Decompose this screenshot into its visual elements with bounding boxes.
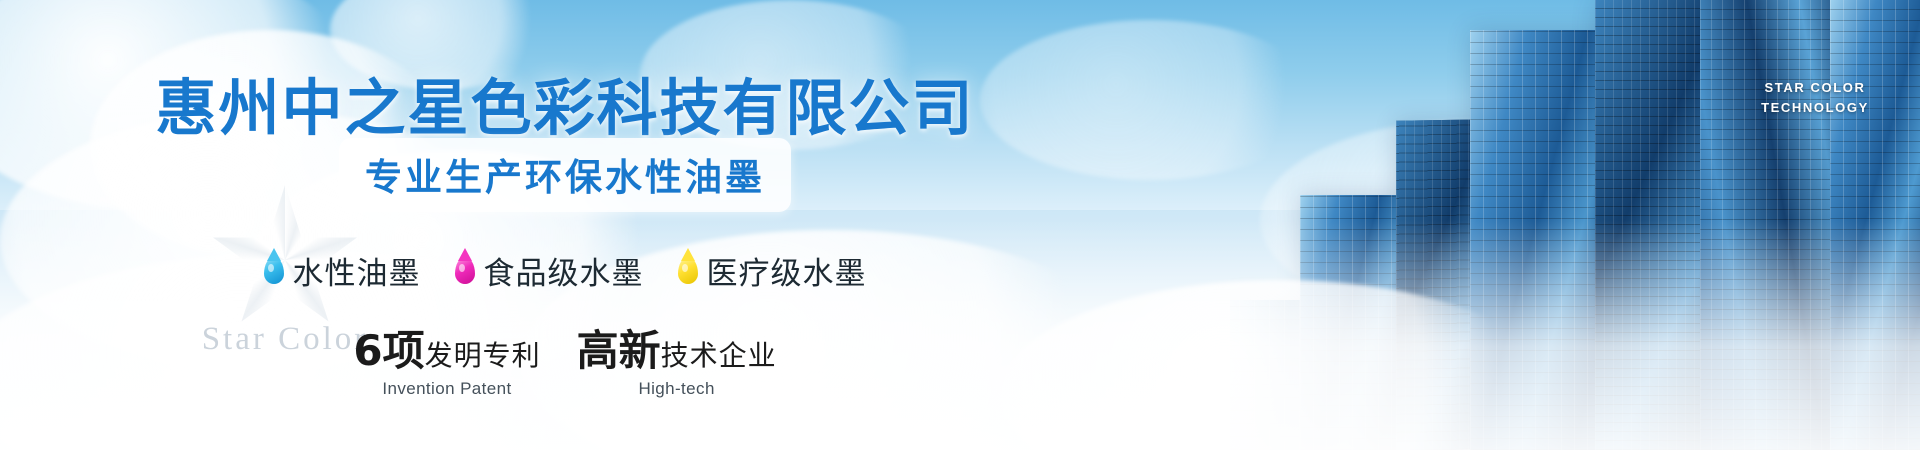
badge-cn-text: 高新技术企业 <box>577 330 777 373</box>
tagline-wrapper: 专业生产环保水性油墨 <box>0 138 1130 212</box>
tagline-pill: 专业生产环保水性油墨 <box>339 138 791 212</box>
badge-cn-text: 6项发明专利 <box>353 330 540 373</box>
badge-cn-small: 技术企业 <box>661 339 777 372</box>
feature-list: 水性油墨 食品级水墨 医疗级水墨 <box>0 248 1130 293</box>
promo-banner: STAR COLOR TECHNOLOGY Star Color 惠州中之星色彩… <box>0 0 1920 450</box>
badge-invention-patent: 6项发明专利 Invention Patent <box>353 330 540 399</box>
brand-mark: STAR COLOR TECHNOLOGY <box>1735 78 1895 118</box>
feature-item: 水性油墨 <box>264 248 421 293</box>
banner-content: 惠州中之星色彩科技有限公司 专业生产环保水性油墨 水性油墨 食品级水墨 医疗级水… <box>0 0 1130 450</box>
badge-list: 6项发明专利 Invention Patent 高新技术企业 High-tech <box>0 330 1130 399</box>
badge-cn-big: 高新 <box>577 326 661 375</box>
feature-label: 医疗级水墨 <box>707 248 867 293</box>
feature-label: 食品级水墨 <box>484 248 644 293</box>
feature-item: 医疗级水墨 <box>678 248 867 293</box>
feature-item: 食品级水墨 <box>455 248 644 293</box>
brand-mark-line1: STAR COLOR <box>1735 78 1895 98</box>
brand-mark-line2: TECHNOLOGY <box>1735 98 1895 118</box>
water-drop-icon <box>678 257 698 284</box>
feature-label: 水性油墨 <box>293 248 421 293</box>
badge-en-text: High-tech <box>577 379 777 399</box>
water-drop-icon <box>264 257 284 284</box>
water-drop-icon <box>455 257 475 284</box>
badge-cn-small: 发明专利 <box>425 339 541 372</box>
badge-high-tech: 高新技术企业 High-tech <box>577 330 777 399</box>
page-title: 惠州中之星色彩科技有限公司 <box>0 58 1130 147</box>
badge-cn-big: 6项 <box>353 326 424 375</box>
badge-en-text: Invention Patent <box>353 379 540 399</box>
